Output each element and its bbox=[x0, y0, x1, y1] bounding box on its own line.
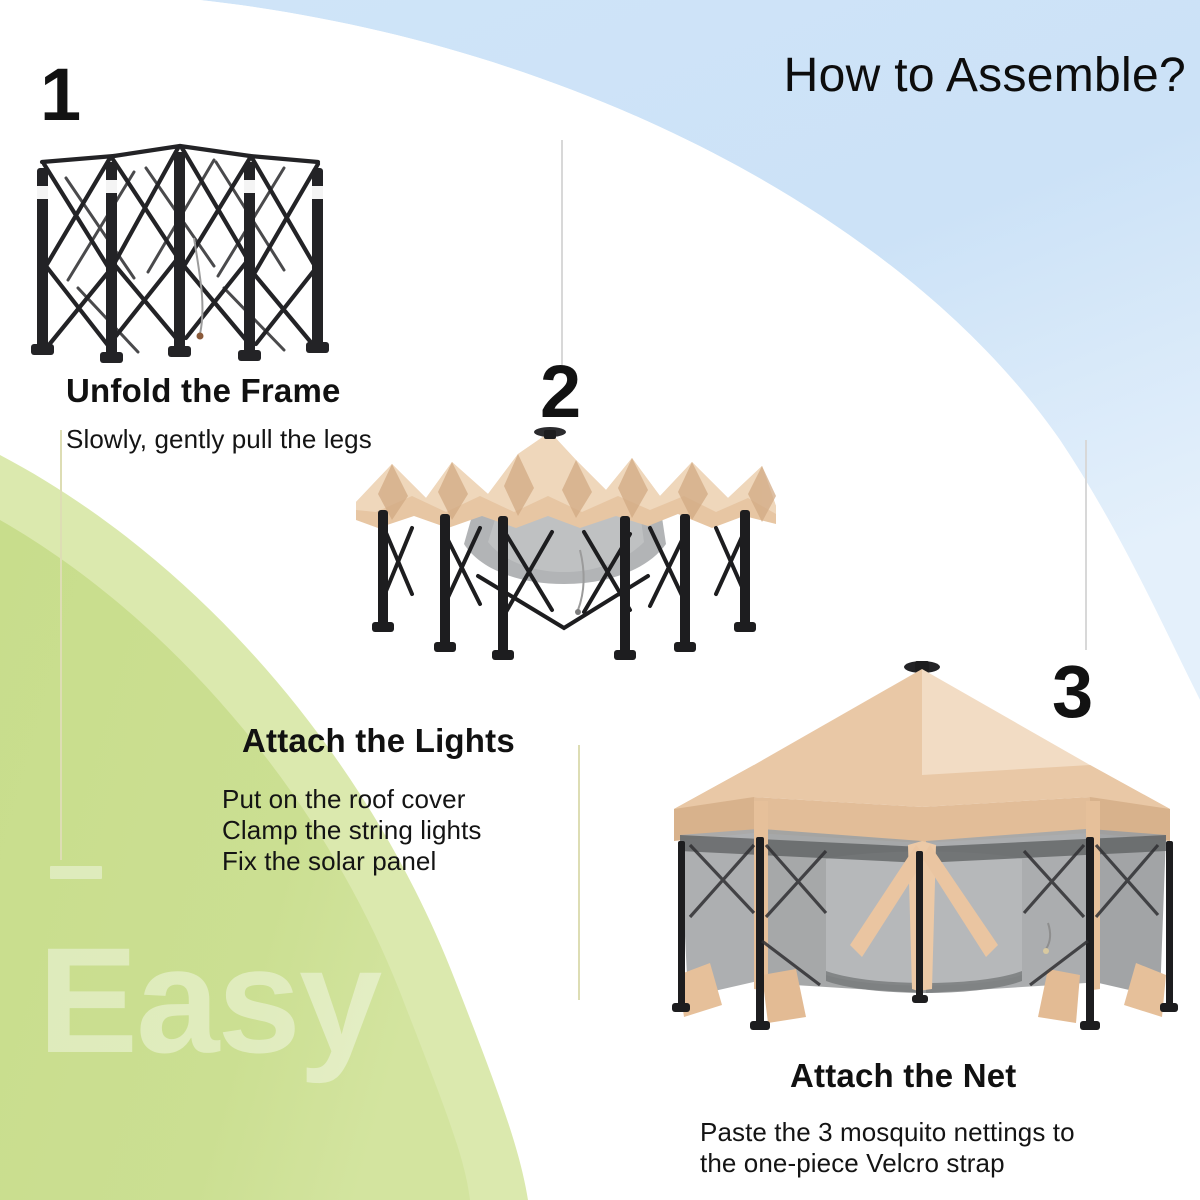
step-description-3-line-2: the one-piece Velcro strap bbox=[700, 1148, 1075, 1179]
step-description-1: Slowly, gently pull the legs bbox=[66, 424, 372, 455]
step-description-1-line-1: Slowly, gently pull the legs bbox=[66, 424, 372, 455]
folded-frame-illustration bbox=[18, 138, 358, 370]
partly-open-canopy-illustration bbox=[348, 424, 780, 672]
connector-line-step-2-caption bbox=[578, 745, 580, 1000]
step-description-3: Paste the 3 mosquito nettings to the one… bbox=[700, 1117, 1075, 1179]
infographic-canvas: Easy How to Assemble? bbox=[0, 0, 1200, 1200]
step-title-3: Attach the Net bbox=[790, 1057, 1017, 1095]
connector-line-step-1-caption bbox=[60, 430, 62, 860]
step-description-3-line-1: Paste the 3 mosquito nettings to bbox=[700, 1117, 1075, 1148]
step-number-2: 2 bbox=[540, 355, 580, 429]
step-title-1: Unfold the Frame bbox=[66, 372, 341, 410]
step-number-3: 3 bbox=[1052, 655, 1092, 729]
step-title-2: Attach the Lights bbox=[242, 722, 515, 760]
step-description-2-line-1: Put on the roof cover bbox=[222, 784, 482, 815]
assembled-gazebo-illustration bbox=[650, 645, 1200, 1055]
watermark-easy: Easy bbox=[38, 925, 380, 1075]
canopy-drape bbox=[356, 432, 776, 528]
connector-line-step-3 bbox=[1085, 440, 1087, 650]
step-description-2-line-3: Fix the solar panel bbox=[222, 846, 482, 877]
connector-line-step-2 bbox=[561, 140, 563, 368]
page-title: How to Assemble? bbox=[784, 48, 1186, 103]
step-number-1: 1 bbox=[40, 58, 80, 132]
step-description-2: Put on the roof cover Clamp the string l… bbox=[222, 784, 482, 878]
step-description-2-line-2: Clamp the string lights bbox=[222, 815, 482, 846]
watermark-dash-icon bbox=[50, 866, 102, 879]
